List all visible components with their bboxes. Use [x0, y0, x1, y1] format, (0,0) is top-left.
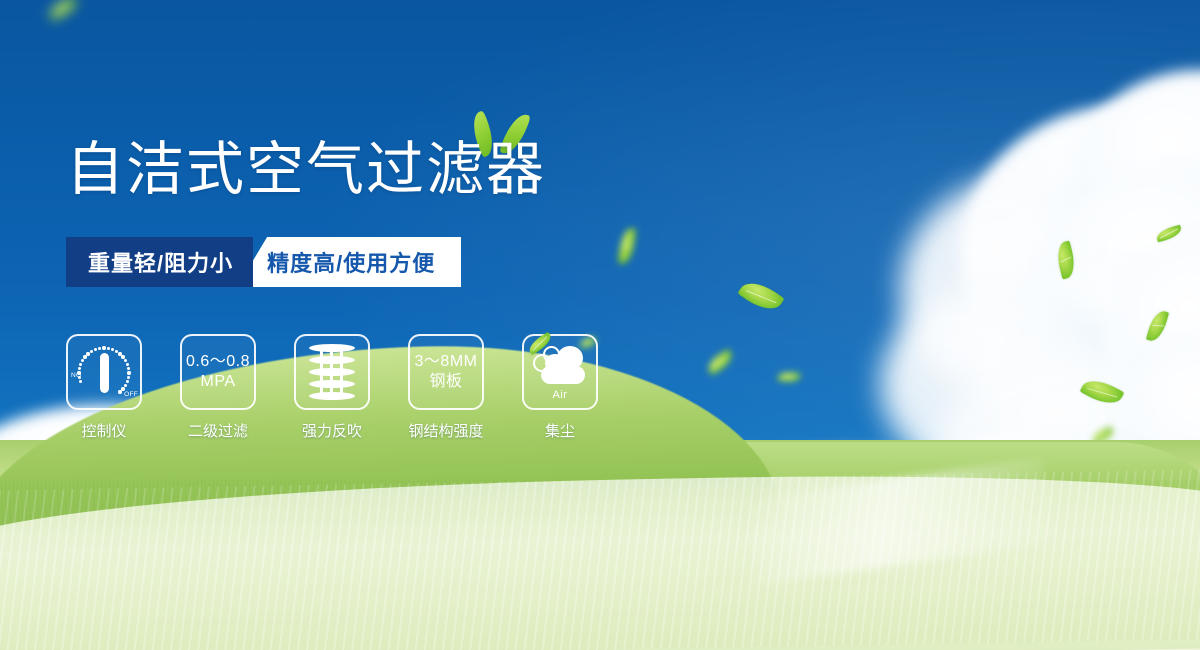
- feature-item-controller[interactable]: NO OFF 控制仪: [66, 334, 142, 441]
- gauge-tick: [81, 359, 84, 362]
- gauge-tick: [111, 348, 114, 351]
- gauge-tick: [127, 371, 130, 374]
- gauge-needle: [100, 353, 109, 393]
- gauge-tick: [107, 347, 110, 350]
- gauge-tick: [126, 380, 129, 383]
- feature-icon-box: [294, 334, 370, 410]
- feature-label: 二级过滤: [188, 420, 248, 441]
- gauge-tick: [83, 355, 86, 358]
- feature-item-steel[interactable]: 3～8MM 钢板 钢结构强度: [408, 334, 484, 441]
- pleat-ring: [309, 356, 355, 364]
- gauge-tick: [98, 347, 101, 350]
- cloud-air-icon: [531, 344, 589, 388]
- feature-label: 控制仪: [81, 420, 126, 441]
- cloud-ring: [543, 346, 560, 363]
- gauge-tick: [78, 376, 81, 379]
- pleated-filter-icon: [309, 344, 355, 400]
- pleat-ring: [309, 392, 355, 400]
- subtitle-bar: 重量轻/阻力小 精度高/使用方便: [66, 237, 461, 287]
- gauge-label-off: OFF: [124, 391, 138, 398]
- steel-plate-icon: 3～8MM 钢板: [415, 352, 478, 392]
- feature-label: 集尘: [545, 420, 575, 441]
- page-title: 自洁式空气过滤器: [66, 141, 546, 199]
- gauge-tick: [121, 387, 124, 390]
- subtitle-tag-secondary: 精度高/使用方便: [237, 237, 461, 287]
- feature-item-dust-collection[interactable]: Air 集尘: [522, 334, 598, 441]
- gauge-tick: [90, 350, 93, 353]
- gauge-tick: [102, 346, 105, 349]
- gauge-tick: [78, 367, 81, 370]
- subtitle-tag-primary: 重量轻/阻力小: [66, 237, 253, 287]
- feature-item-blowback[interactable]: 强力反吹: [294, 334, 370, 441]
- gauge-tick: [124, 359, 127, 362]
- cloud-air-caption: Air: [553, 389, 568, 401]
- gauge-tick: [94, 348, 97, 351]
- gauge-tick: [79, 363, 82, 366]
- gauge-tick: [79, 380, 82, 383]
- steel-material: 钢板: [415, 372, 478, 392]
- feature-list: NO OFF 控制仪 0.6～0.8 MPA 二级过滤: [66, 334, 598, 441]
- gauge-icon: NO OFF: [73, 342, 135, 402]
- feature-icon-box: NO OFF: [66, 334, 142, 410]
- pressure-unit: MPA: [186, 372, 250, 392]
- gauge-tick: [127, 376, 130, 379]
- feature-label: 钢结构强度: [408, 420, 483, 441]
- steel-thickness: 3～8MM: [415, 352, 478, 372]
- pressure-icon: 0.6～0.8 MPA: [186, 352, 250, 392]
- gauge-tick: [86, 352, 89, 355]
- gauge-tick: [77, 371, 80, 374]
- feature-item-filtration[interactable]: 0.6～0.8 MPA 二级过滤: [180, 334, 256, 441]
- pressure-value: 0.6～0.8: [186, 352, 250, 372]
- gauge-tick: [126, 363, 129, 366]
- grass-field: [0, 440, 1200, 650]
- feature-icon-box: 0.6～0.8 MPA: [180, 334, 256, 410]
- feature-icon-box: Air: [522, 334, 598, 410]
- pleat-ring: [309, 380, 355, 388]
- feature-label: 强力反吹: [302, 420, 362, 441]
- feature-icon-box: 3～8MM 钢板: [408, 334, 484, 410]
- gauge-tick: [118, 390, 121, 393]
- pleat-ring: [309, 344, 355, 352]
- hero-banner: 自洁式空气过滤器 重量轻/阻力小 精度高/使用方便 NO OFF 控制仪 0.6…: [0, 0, 1200, 650]
- gauge-tick: [127, 367, 130, 370]
- pleat-ring: [309, 368, 355, 376]
